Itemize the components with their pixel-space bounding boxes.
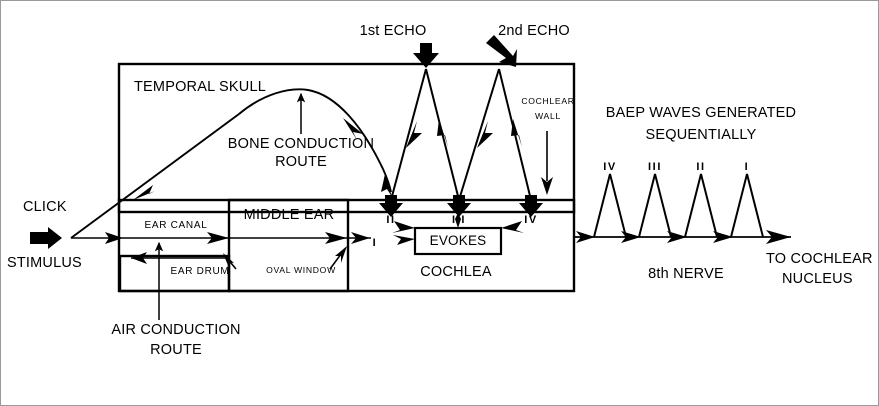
cochlear-wall-label-line2: WALL: [535, 112, 561, 122]
baep-waves-label-line1: BAEP WAVES GENERATED: [606, 105, 796, 121]
ear-canal-label: EAR CANAL: [145, 220, 208, 231]
evokes-label: EVOKES: [430, 233, 487, 248]
wave-I-marker: I: [373, 237, 378, 249]
bone-conduction-route-label-line1: BONE CONDUCTION: [228, 136, 374, 152]
baep-wave-IV-marker: IV: [603, 161, 617, 173]
diagram-canvas: CLICK STIMULUS TEMPORAL SKULL BONE CONDU…: [0, 0, 879, 406]
eighth-nerve-label: 8th NERVE: [648, 266, 724, 282]
air-conduction-route-label-line1: AIR CONDUCTION: [111, 322, 240, 338]
cochlear-wall-arrow: [541, 131, 553, 195]
second-echo-label: 2nd ECHO: [498, 23, 570, 39]
temporal-skull-label: TEMPORAL SKULL: [134, 79, 266, 95]
stimulus-label: STIMULUS: [7, 255, 82, 271]
to-cochlear-nucleus-label-line1: TO COCHLEAR: [766, 251, 873, 267]
air-conduction-route-line: [71, 232, 371, 244]
wave-III-marker: III: [452, 214, 466, 226]
wave-IV-marker: IV: [524, 214, 538, 226]
click-label: CLICK: [23, 199, 67, 215]
baep-wave-I-marker: I: [745, 161, 750, 173]
eighth-nerve-axis: [574, 230, 791, 244]
bone-conduction-route-label-line2: ROUTE: [275, 154, 327, 170]
first-echo-label: 1st ECHO: [360, 23, 427, 39]
second-echo-arrow: [486, 35, 517, 67]
oval-window-label: OVAL WINDOW: [266, 266, 336, 276]
cochlear-wall-label-line1: COCHLEAR: [521, 97, 574, 107]
ear-drum-label: EAR DRUM: [171, 266, 230, 277]
to-cochlear-nucleus-label-line2: NUCLEUS: [782, 271, 853, 287]
baep-waveform-group: [594, 174, 763, 237]
wave-II-marker: II: [386, 214, 395, 226]
diagram-vector-layer: [1, 1, 879, 406]
baep-wave-III-marker: III: [648, 161, 662, 173]
air-conduction-route-label-line2: ROUTE: [150, 342, 202, 358]
middle-ear-label: MIDDLE EAR: [244, 207, 335, 223]
click-stimulus-arrow: [30, 227, 62, 249]
cochlea-label: COCHLEA: [420, 264, 492, 280]
baep-waves-label-line2: SEQUENTIALLY: [646, 127, 757, 143]
echo-zigzag-path: [391, 69, 531, 200]
baep-wave-II-marker: II: [696, 161, 705, 173]
cochlea-box: [119, 200, 574, 291]
